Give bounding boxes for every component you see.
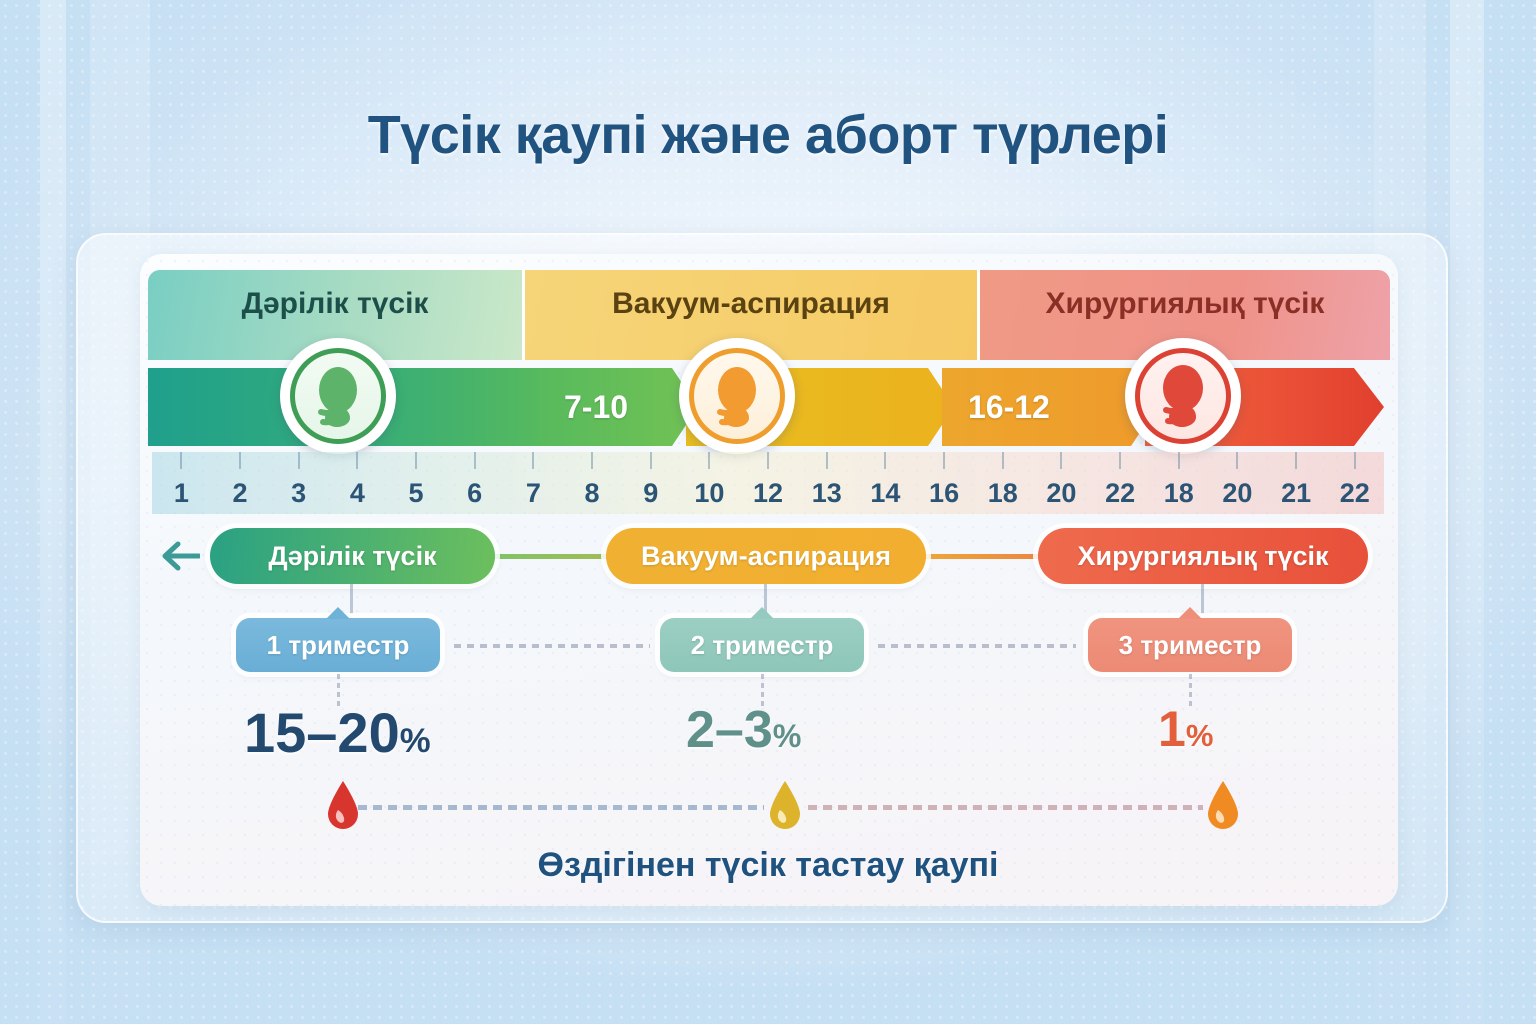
arrow-segment-orange[interactable]: 16-12 [942, 368, 1157, 446]
droplet-row [148, 778, 1388, 836]
trimester-connector [454, 644, 650, 648]
ruler-tick: 5 [387, 452, 446, 514]
ruler-tick: 18 [973, 452, 1032, 514]
ruler-tick: 6 [445, 452, 504, 514]
method-pill-label: Дәрілік түсік [268, 541, 436, 572]
arrow-segment-green[interactable]: 7-10 [538, 368, 698, 446]
ruler-tick: 21 [1267, 452, 1326, 514]
ruler-tick: 18 [1149, 452, 1208, 514]
trimester-row: 1 триместр 2 триместр 3 триместр [148, 618, 1388, 678]
header-band-label: Дәрілік түсік [242, 287, 429, 321]
embryo-icon [706, 360, 768, 432]
header-band-label: Вакуум-аспирация [612, 287, 890, 321]
embryo-icon [1152, 360, 1214, 432]
arrow-segment-label: 16-12 [968, 389, 1050, 426]
method-pill-vacuum[interactable]: Вакуум-аспирация [606, 528, 926, 584]
ruler-tick: 4 [328, 452, 387, 514]
risk-percentage-1: 15–20% [244, 700, 431, 765]
trimester-label: 1 триместр [267, 630, 410, 661]
percent-sign: % [1186, 718, 1214, 753]
percent-sign: % [773, 718, 802, 754]
left-arrow-icon[interactable] [162, 541, 200, 571]
risk-percentage-3: 1% [1158, 700, 1213, 758]
method-pill-surgical[interactable]: Хирургиялық түсік [1038, 528, 1368, 584]
risk-value: 15–20 [244, 701, 400, 764]
header-band-label: Хирургиялық түсік [1046, 287, 1325, 321]
ruler-tick: 10 [680, 452, 739, 514]
trimester-badge-2[interactable]: 2 триместр [660, 618, 864, 672]
ruler-tick: 8 [563, 452, 622, 514]
ruler-tick: 16 [915, 452, 974, 514]
medallion-ring [290, 348, 386, 444]
ruler-tick: 20 [1208, 452, 1267, 514]
risk-percentage-row: 15–20% 2–3% 1% [148, 700, 1388, 774]
method-pill-medical[interactable]: Дәрілік түсік [210, 528, 495, 584]
embryo-medallion-orange [679, 338, 795, 454]
ruler-tick: 3 [269, 452, 328, 514]
ruler-tick: 9 [621, 452, 680, 514]
risk-percentage-2: 2–3% [686, 700, 801, 760]
percent-sign: % [400, 722, 431, 760]
blood-drop-orange-icon [1206, 780, 1240, 832]
ruler-tick: 14 [856, 452, 915, 514]
trimester-label: 2 триместр [691, 630, 834, 661]
trimester-label: 3 триместр [1119, 630, 1262, 661]
ruler-tick: 13 [797, 452, 856, 514]
embryo-medallion-green [280, 338, 396, 454]
method-pill-row: Дәрілік түсік Вакуум-аспирация Хирургиял… [148, 528, 1388, 584]
medallion-ring [689, 348, 785, 444]
trimester-badge-1[interactable]: 1 триместр [236, 618, 440, 672]
droplet-connector [358, 805, 764, 810]
trimester-connector [878, 644, 1076, 648]
footer-caption: Өздігінен түсік тастау қаупі [0, 846, 1536, 885]
embryo-medallion-red [1125, 338, 1241, 454]
pill-stem [350, 584, 353, 614]
ruler-tick: 12 [739, 452, 798, 514]
blood-drop-gold-icon [768, 780, 802, 832]
ruler-tick: 1 [152, 452, 211, 514]
blood-drop-red-icon [326, 780, 360, 832]
droplet-connector [808, 805, 1203, 810]
arrow-segment-label: 7-10 [564, 389, 628, 426]
ruler-tick: 22 [1091, 452, 1150, 514]
ruler-tick: 20 [1032, 452, 1091, 514]
trimester-badge-3[interactable]: 3 триместр [1088, 618, 1292, 672]
weeks-ruler: 1 2 3 4 5 6 7 8 9 10 12 13 14 16 18 20 2… [152, 452, 1384, 514]
method-pill-label: Вакуум-аспирация [641, 541, 891, 572]
risk-value: 2–3 [686, 701, 773, 759]
medallion-ring [1135, 348, 1231, 444]
risk-value: 1 [1158, 701, 1186, 757]
method-pill-label: Хирургиялық түсік [1078, 541, 1329, 572]
embryo-icon [307, 360, 369, 432]
ruler-tick: 22 [1325, 452, 1384, 514]
ruler-tick: 7 [504, 452, 563, 514]
ruler-tick: 2 [211, 452, 270, 514]
page-title: Түсік қаупі және аборт түрлері [0, 104, 1536, 166]
